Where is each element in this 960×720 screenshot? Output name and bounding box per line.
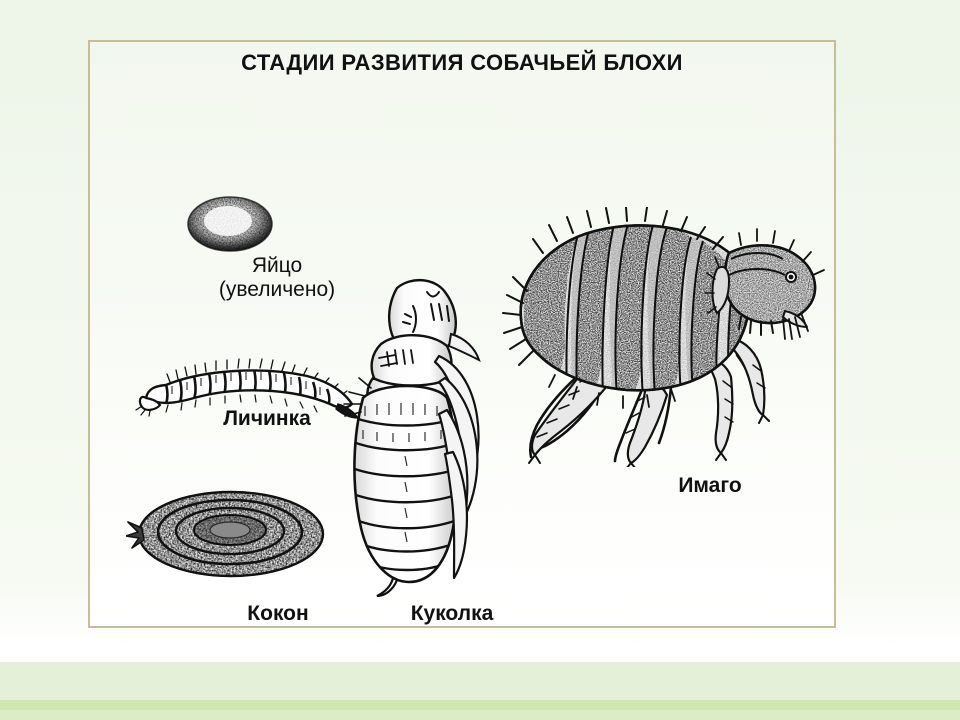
footer-band-accent <box>0 700 960 710</box>
stage-label-imago: Имаго <box>610 474 810 498</box>
flea-adult-icon <box>485 207 835 472</box>
footer-band-light <box>0 662 960 700</box>
flea-cocoon-icon <box>126 482 336 592</box>
diagram-panel: СТАДИИ РАЗВИТИЯ СОБАЧЬЕЙ БЛОХИ <box>88 40 836 628</box>
stage-label-cocoon: Кокон <box>178 602 378 626</box>
page-title: СТАДИИ РАЗВИТИЯ СОБАЧЬЕЙ БЛОХИ <box>90 50 834 76</box>
stage-label-pupa: Куколка <box>352 602 552 626</box>
footer-band-bottom <box>0 710 960 720</box>
flea-pupa-icon <box>335 270 510 605</box>
slide-canvas: СТАДИИ РАЗВИТИЯ СОБАЧЬЕЙ БЛОХИ <box>0 0 960 720</box>
